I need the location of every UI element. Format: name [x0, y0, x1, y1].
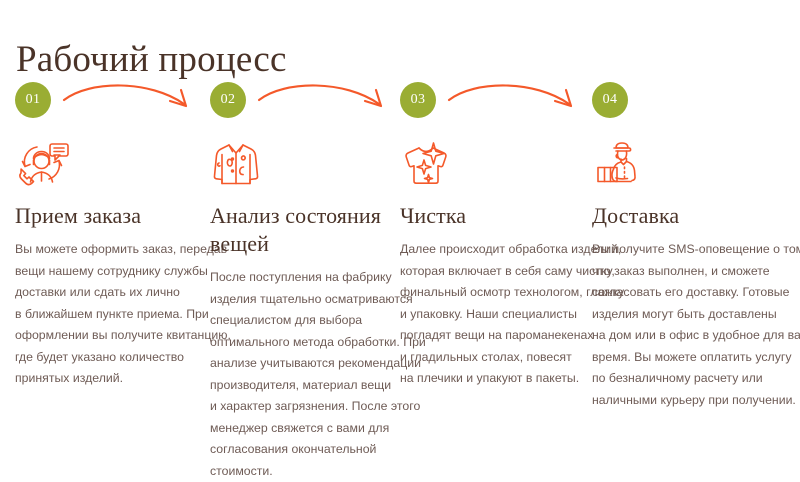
connector-arrow-icon-1	[62, 78, 202, 120]
body-line: После поступления на фабрику	[210, 267, 375, 289]
step-heading-4: Доставка	[592, 202, 785, 230]
body-line: и характер загрязнения. После этого	[210, 396, 375, 418]
body-line: специалистом для выбора	[210, 310, 375, 332]
step-badge-row-1: 01	[15, 82, 195, 130]
steps-container: 01	[0, 82, 800, 482]
body-line: принятых изделий.	[15, 368, 185, 390]
connector-arrow-icon-3	[447, 78, 587, 120]
body-line: на дом или в офис в удобное для вас	[592, 325, 775, 347]
body-line: финальный осмотр технологом, глажку	[400, 282, 567, 304]
step-number-badge-4: 04	[592, 82, 628, 118]
body-line: менеджер свяжется с вами для	[210, 418, 375, 440]
step-badge-row-4: 04	[592, 82, 785, 130]
step-body-2: После поступления на фабрику изделия тща…	[210, 267, 385, 482]
body-line: изделия могут быть доставлены	[592, 304, 775, 326]
body-line: наличными курьеру при получении.	[592, 390, 775, 412]
body-line: оформлении вы получите квитанцию,	[15, 325, 185, 347]
step-card-2: 02	[195, 82, 385, 482]
step-heading-1: Прием заказа	[15, 202, 195, 230]
body-line: доставки или сдать их лично	[15, 282, 185, 304]
step-icon-wrap-4	[592, 132, 785, 190]
page-title: Рабочий процесс	[16, 38, 287, 82]
body-line: Далее происходит обработка изделий,	[400, 239, 567, 261]
step-card-3: 03	[385, 82, 577, 482]
step-heading-2: Анализ состояния вещей	[210, 202, 385, 258]
step-icon-wrap-3	[400, 132, 577, 190]
body-line: согласовать его доставку. Готовые	[592, 282, 775, 304]
body-line: стоимости.	[210, 461, 375, 482]
stained-shirt-icon	[210, 138, 262, 190]
body-line: по безналичному расчету или	[592, 368, 775, 390]
body-line: оптимального метода обработки. При	[210, 332, 375, 354]
body-line: Вы получите SMS-оповещение о том,	[592, 239, 775, 261]
courier-with-box-icon	[592, 138, 650, 190]
body-line: и гладильных столах, повесят	[400, 347, 567, 369]
step-card-4: 04	[577, 82, 799, 482]
body-line: на плечики и упакуют в пакеты.	[400, 368, 567, 390]
step-icon-wrap-1	[15, 132, 195, 190]
step-number-badge-1: 01	[15, 82, 51, 118]
body-line: в ближайшем пункте приема. При	[15, 304, 185, 326]
connector-arrow-icon-2	[257, 78, 397, 120]
body-line: изделия тщательно осматриваются	[210, 289, 375, 311]
body-line: которая включает в себя саму чистку,	[400, 261, 567, 283]
step-heading-3: Чистка	[400, 202, 577, 230]
body-line: погладят вещи на пароманекенах	[400, 325, 567, 347]
clean-tshirt-sparkle-icon	[400, 138, 454, 190]
body-line: производителя, материал вещи	[210, 375, 375, 397]
step-card-1: 01	[0, 82, 195, 482]
body-line: вещи нашему сотруднику службы	[15, 261, 185, 283]
step-body-4: Вы получите SMS-оповещение о том, что за…	[592, 239, 785, 411]
body-line: время. Вы можете оплатить услугу	[592, 347, 775, 369]
step-body-1: Вы можете оформить заказ, передав вещи н…	[15, 239, 195, 390]
step-number-badge-3: 03	[400, 82, 436, 118]
body-line: анализе учитываются рекомендации	[210, 353, 375, 375]
body-line: где будет указано количество	[15, 347, 185, 369]
body-line: Вы можете оформить заказ, передав	[15, 239, 185, 261]
step-body-3: Далее происходит обработка изделий, кото…	[400, 239, 577, 390]
step-icon-wrap-2	[210, 132, 385, 190]
step-badge-row-2: 02	[210, 82, 385, 130]
body-line: что заказ выполнен, и сможете	[592, 261, 775, 283]
step-badge-row-3: 03	[400, 82, 577, 130]
step-number-badge-2: 02	[210, 82, 246, 118]
workflow-section: Рабочий процесс 01	[0, 0, 800, 430]
body-line: и упаковку. Наши специалисты	[400, 304, 567, 326]
body-line: согласования окончательной	[210, 439, 375, 461]
support-agent-headset-icon	[15, 138, 73, 190]
